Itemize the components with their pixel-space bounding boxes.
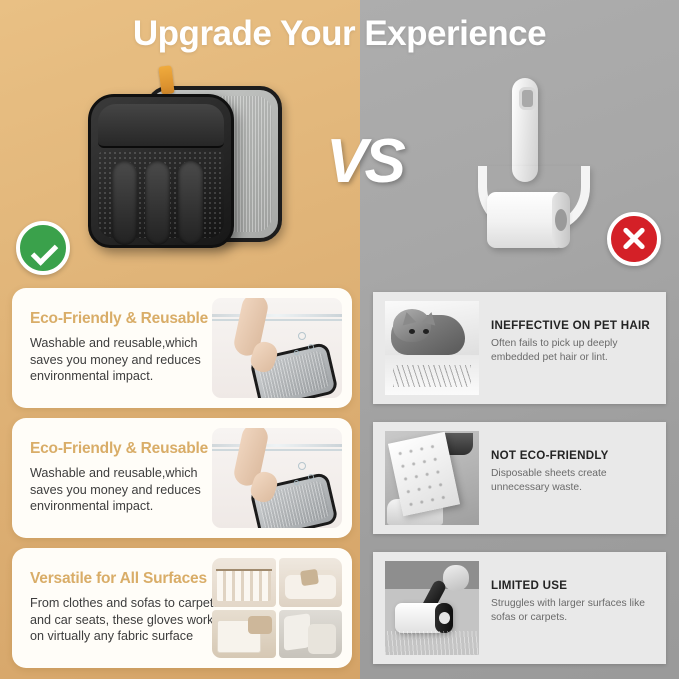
benefit-card-title: Eco-Friendly & Reusable	[30, 310, 226, 328]
benefit-card-text: Eco-Friendly & Reusable Washable and reu…	[30, 310, 226, 385]
mitt-finger	[145, 161, 170, 245]
drawback-card-body: Disposable sheets create unnecessary was…	[491, 467, 657, 494]
drawback-card-title: LIMITED USE	[491, 579, 657, 592]
drawback-card-text: NOT ECO-FRIENDLY Disposable sheets creat…	[491, 449, 657, 494]
drawback-card-title: INEFFECTIVE ON PET HAIR	[491, 319, 657, 332]
drawback-card-text: INEFFECTIVE ON PET HAIR Often fails to p…	[491, 319, 657, 364]
cat-eye	[409, 329, 415, 334]
drawback-card-body: Struggles with larger surfaces like sofa…	[491, 597, 657, 624]
cat-head	[393, 309, 431, 342]
carpet-image	[212, 610, 276, 659]
mitt-finger	[112, 161, 137, 245]
water-surface	[212, 314, 342, 317]
benefit-card-body: From clothes and sofas to carpets and ca…	[30, 595, 226, 645]
carpet-texture	[385, 631, 479, 655]
mitt-flap	[98, 104, 224, 148]
benefit-card-text: Eco-Friendly & Reusable Washable and reu…	[30, 440, 226, 515]
bubble-icon	[308, 474, 314, 480]
drawback-card-text: LIMITED USE Struggles with larger surfac…	[491, 579, 657, 624]
benefit-card[interactable]: Eco-Friendly & Reusable Washable and reu…	[12, 418, 352, 538]
bubble-icon	[298, 462, 306, 470]
shed-hair-texture	[393, 365, 471, 387]
benefit-card[interactable]: Eco-Friendly & Reusable Washable and reu…	[12, 288, 352, 408]
cat-ear	[422, 310, 438, 325]
roller-end-cap	[552, 192, 570, 248]
drawback-card-image	[385, 301, 479, 395]
benefit-card-text: Versatile for All Surfaces From clothes …	[30, 570, 226, 645]
cat-eye	[423, 329, 429, 334]
comparison-infographic: Upgrade Your Experience VS Eco-Friendly …	[0, 0, 679, 679]
car-seats-image	[279, 610, 343, 659]
hand-shape	[443, 565, 469, 591]
drawback-card-title: NOT ECO-FRIENDLY	[491, 449, 657, 462]
cat-ear	[400, 310, 416, 325]
roller-hang-hole	[519, 87, 536, 110]
bubble-icon	[308, 344, 314, 350]
product-image-glove	[88, 78, 278, 248]
water-surface	[212, 319, 342, 321]
benefit-card-title: Eco-Friendly & Reusable	[30, 440, 226, 458]
benefit-card-title: Versatile for All Surfaces	[30, 570, 226, 588]
drawback-card-image	[385, 431, 479, 525]
benefit-card-image	[212, 558, 342, 658]
drawback-card[interactable]: INEFFECTIVE ON PET HAIR Often fails to p…	[373, 292, 666, 404]
roller-end-cap	[435, 603, 453, 633]
mitt-finger	[178, 161, 203, 245]
water-surface	[212, 444, 342, 447]
benefit-card-body: Washable and reusable,which saves you mo…	[30, 465, 226, 515]
bubble-icon	[294, 480, 299, 485]
drawback-card-body: Often fails to pick up deeply embedded p…	[491, 337, 657, 364]
water-surface	[212, 449, 342, 451]
benefit-card-image	[212, 428, 342, 528]
sofa-image	[279, 558, 343, 607]
bubble-icon	[298, 332, 306, 340]
benefit-card[interactable]: Versatile for All Surfaces From clothes …	[12, 548, 352, 668]
bubble-icon	[294, 350, 299, 355]
green-check-icon	[16, 221, 70, 275]
vs-badge: VS	[312, 128, 417, 196]
red-cross-icon	[607, 212, 661, 266]
benefit-card-body: Washable and reusable,which saves you mo…	[30, 335, 226, 385]
benefit-card-image	[212, 298, 342, 398]
clothes-rack-image	[212, 558, 276, 607]
page-title: Upgrade Your Experience	[0, 14, 679, 54]
drawback-card[interactable]: LIMITED USE Struggles with larger surfac…	[373, 552, 666, 664]
drawback-card[interactable]: NOT ECO-FRIENDLY Disposable sheets creat…	[373, 422, 666, 534]
black-mitt-shape	[88, 94, 234, 248]
product-image-lint-roller	[470, 78, 590, 248]
mitt-mesh	[98, 151, 224, 238]
drawback-card-image	[385, 561, 479, 655]
